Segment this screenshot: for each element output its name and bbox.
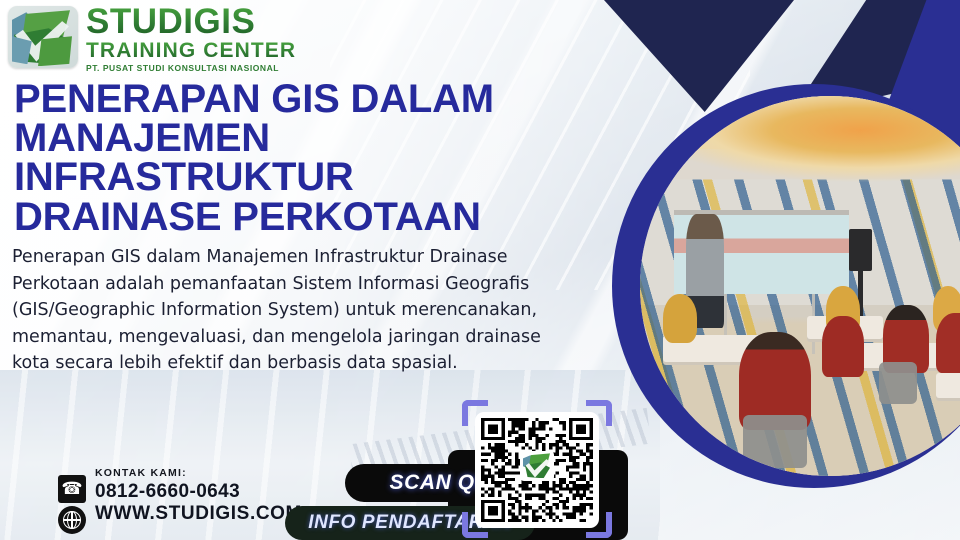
contact-text: KONTAK KAMI: 0812-6660-0643 WWW.STUDIGIS… (95, 468, 302, 524)
title-line-2: MANAJEMEN (14, 119, 614, 158)
brand-logo[interactable]: STUDIGIS TRAINING CENTER PT. PUSAT STUDI… (8, 2, 296, 73)
contact-label: KONTAK KAMI: (95, 468, 302, 479)
studigis-map-logo-icon (8, 6, 78, 68)
description-paragraph: Penerapan GIS dalam Manajemen Infrastruk… (12, 244, 542, 377)
qr-code-block[interactable] (462, 400, 612, 538)
attendee-red-1 (822, 316, 864, 377)
title-line-3: INFRASTRUKTUR (14, 158, 614, 197)
globe-icon (58, 506, 86, 534)
contact-phone[interactable]: 0812-6660-0643 (95, 482, 302, 502)
attendee-red-3 (936, 313, 960, 374)
contact-block: ☎ KONTAK KAMI: 0812-6660-0643 WWW.STUDIG… (58, 468, 302, 534)
phone-icon: ☎ (58, 475, 86, 503)
desk-4 (936, 373, 960, 398)
contact-icons: ☎ (58, 468, 86, 534)
title-line-1: PENERAPAN GIS DALAM (14, 80, 614, 119)
qr-code-matrix (481, 418, 593, 522)
page-title: PENERAPAN GIS DALAM MANAJEMEN INFRASTRUK… (14, 80, 614, 237)
seminar-photo (640, 96, 960, 476)
brand-tagline: PT. PUSAT STUDI KONSULTASI NASIONAL (86, 64, 296, 73)
seminar-scene (640, 96, 960, 476)
contact-website[interactable]: WWW.STUDIGIS.COM (95, 504, 302, 524)
attendee-hijab-1 (663, 294, 697, 343)
qr-center-logo-icon (520, 451, 554, 481)
brand-logo-text: STUDIGIS TRAINING CENTER PT. PUSAT STUDI… (86, 2, 296, 73)
poster-canvas: STUDIGIS TRAINING CENTER PT. PUSAT STUDI… (0, 0, 960, 540)
title-line-4: DRAINASE PERKOTAAN (14, 198, 614, 237)
chair-front (743, 415, 808, 468)
audio-speaker-icon (849, 229, 872, 271)
brand-name: STUDIGIS (86, 4, 296, 39)
chair-side (879, 362, 917, 404)
qr-code-card[interactable] (475, 412, 599, 528)
brand-subtitle: TRAINING CENTER (86, 40, 296, 61)
